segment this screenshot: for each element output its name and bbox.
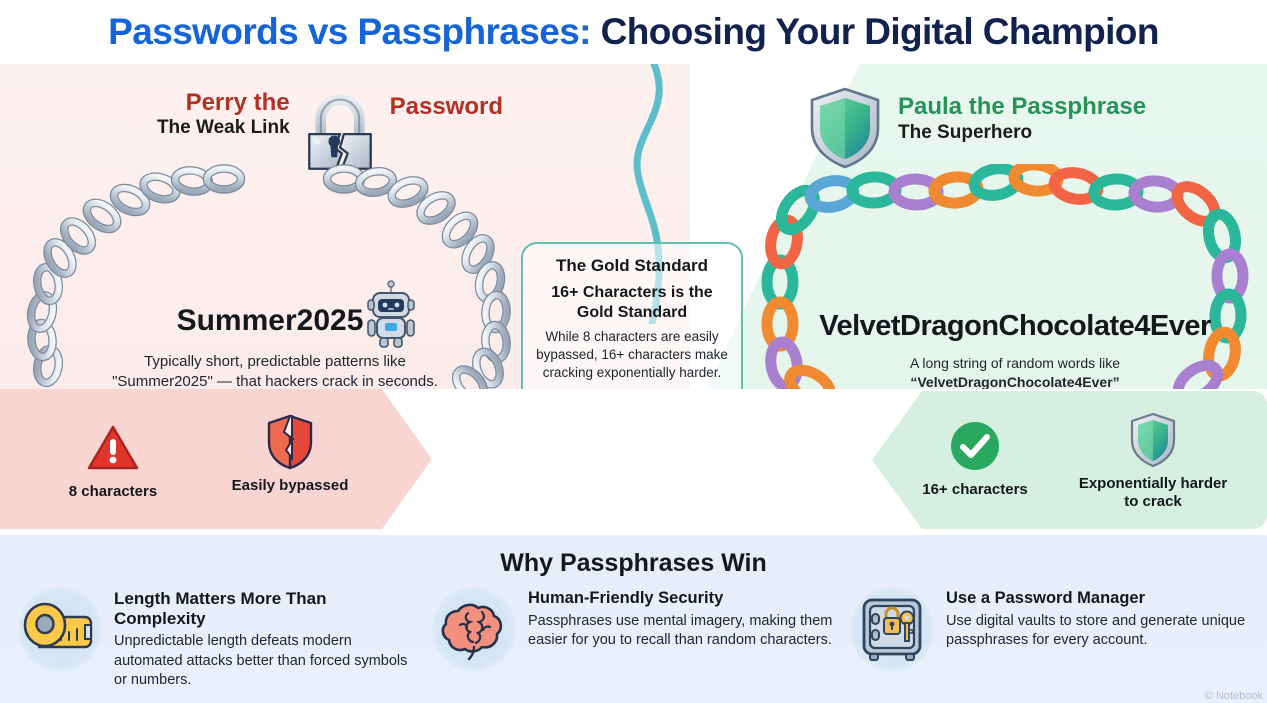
passphrase-description-line1: A long string of random words like xyxy=(910,355,1120,371)
tip-body: Human-Friendly Security Passphrases use … xyxy=(528,587,840,650)
paula-name: Paula the Passphrase xyxy=(898,86,1146,120)
stat-8-characters-label: 8 characters xyxy=(33,483,193,501)
safe-vault-icon xyxy=(857,594,927,664)
page-title-secondary: Choosing Your Digital Champion xyxy=(591,11,1159,52)
passphrase-sample: VelvetDragonChocolate4Ever xyxy=(780,310,1250,343)
tip-icon-wrap xyxy=(432,587,516,671)
tip-password-manager: Use a Password Manager Use digital vault… xyxy=(840,587,1260,690)
tips-section: Why Passphrases Win xyxy=(0,535,1267,703)
gold-standard-heading: The Gold Standard xyxy=(533,256,731,276)
passphrase-headline: Paula the Passphrase The Superhero xyxy=(806,86,1146,170)
gold-standard-subheading: 16+ Characters is the Gold Standard xyxy=(533,283,731,321)
broken-shield-icon xyxy=(265,414,315,470)
passphrase-description-quote: “VelvetDragonChocolate4Ever” xyxy=(910,374,1119,390)
stat-easily-bypassed-label: Easily bypassed xyxy=(210,477,370,495)
password-description: Typically short, predictable patterns li… xyxy=(110,352,440,392)
watermark: © Notebook xyxy=(1205,690,1263,702)
tips-heading: Why Passphrases Win xyxy=(0,549,1267,578)
stat-16-characters: 16+ characters xyxy=(895,417,1055,499)
hero-section: Perry the The Weak Link xyxy=(0,64,1267,389)
warning-triangle-icon xyxy=(87,424,139,472)
tip-text: Use digital vaults to store and generate… xyxy=(946,612,1260,650)
tip-text: Unpredictable length defeats modern auto… xyxy=(114,632,420,689)
stat-16-characters-label: 16+ characters xyxy=(895,481,1055,499)
measuring-tape-icon xyxy=(23,595,97,663)
paula-subtitle: The Superhero xyxy=(898,123,1146,144)
perry-name-first: Perry the xyxy=(157,90,290,115)
perry-subtitle: The Weak Link xyxy=(157,118,290,139)
tip-body: Use a Password Manager Use digital vault… xyxy=(946,587,1260,650)
tips-list: Length Matters More Than Complexity Unpr… xyxy=(0,587,1267,690)
brain-icon xyxy=(438,597,510,661)
stats-section: 8 characters Easily bypassed 16+ char xyxy=(0,389,1267,535)
tip-human-friendly: Human-Friendly Security Passphrases use … xyxy=(420,587,840,690)
tip-body: Length Matters More Than Complexity Unpr… xyxy=(114,587,420,690)
stat-harder-to-crack: Exponentially harder to crack xyxy=(1073,411,1233,510)
shield-icon xyxy=(806,86,884,170)
stat-easily-bypassed: Easily bypassed xyxy=(210,413,370,495)
page-title: Passwords vs Passphrases: Choosing Your … xyxy=(0,0,1267,64)
tip-icon-wrap xyxy=(18,587,102,671)
tip-heading: Human-Friendly Security xyxy=(528,589,840,608)
robot-icon xyxy=(360,279,422,349)
tip-icon-wrap xyxy=(850,587,934,671)
stat-harder-to-crack-label: Exponentially harder to crack xyxy=(1073,475,1233,510)
perry-name-second: Password xyxy=(390,94,503,119)
gold-standard-body: While 8 characters are easily bypassed, … xyxy=(533,328,731,382)
check-circle-icon xyxy=(949,420,1001,472)
shield-icon xyxy=(1129,412,1177,468)
tip-heading: Length Matters More Than Complexity xyxy=(114,589,420,628)
tip-text: Passphrases use mental imagery, making t… xyxy=(528,612,840,650)
tip-length-matters: Length Matters More Than Complexity Unpr… xyxy=(0,587,420,690)
stat-8-characters: 8 characters xyxy=(33,419,193,501)
page-title-primary: Passwords vs Passphrases: xyxy=(108,11,591,52)
tip-heading: Use a Password Manager xyxy=(946,589,1260,608)
infographic-root: Passwords vs Passphrases: Choosing Your … xyxy=(0,0,1267,703)
